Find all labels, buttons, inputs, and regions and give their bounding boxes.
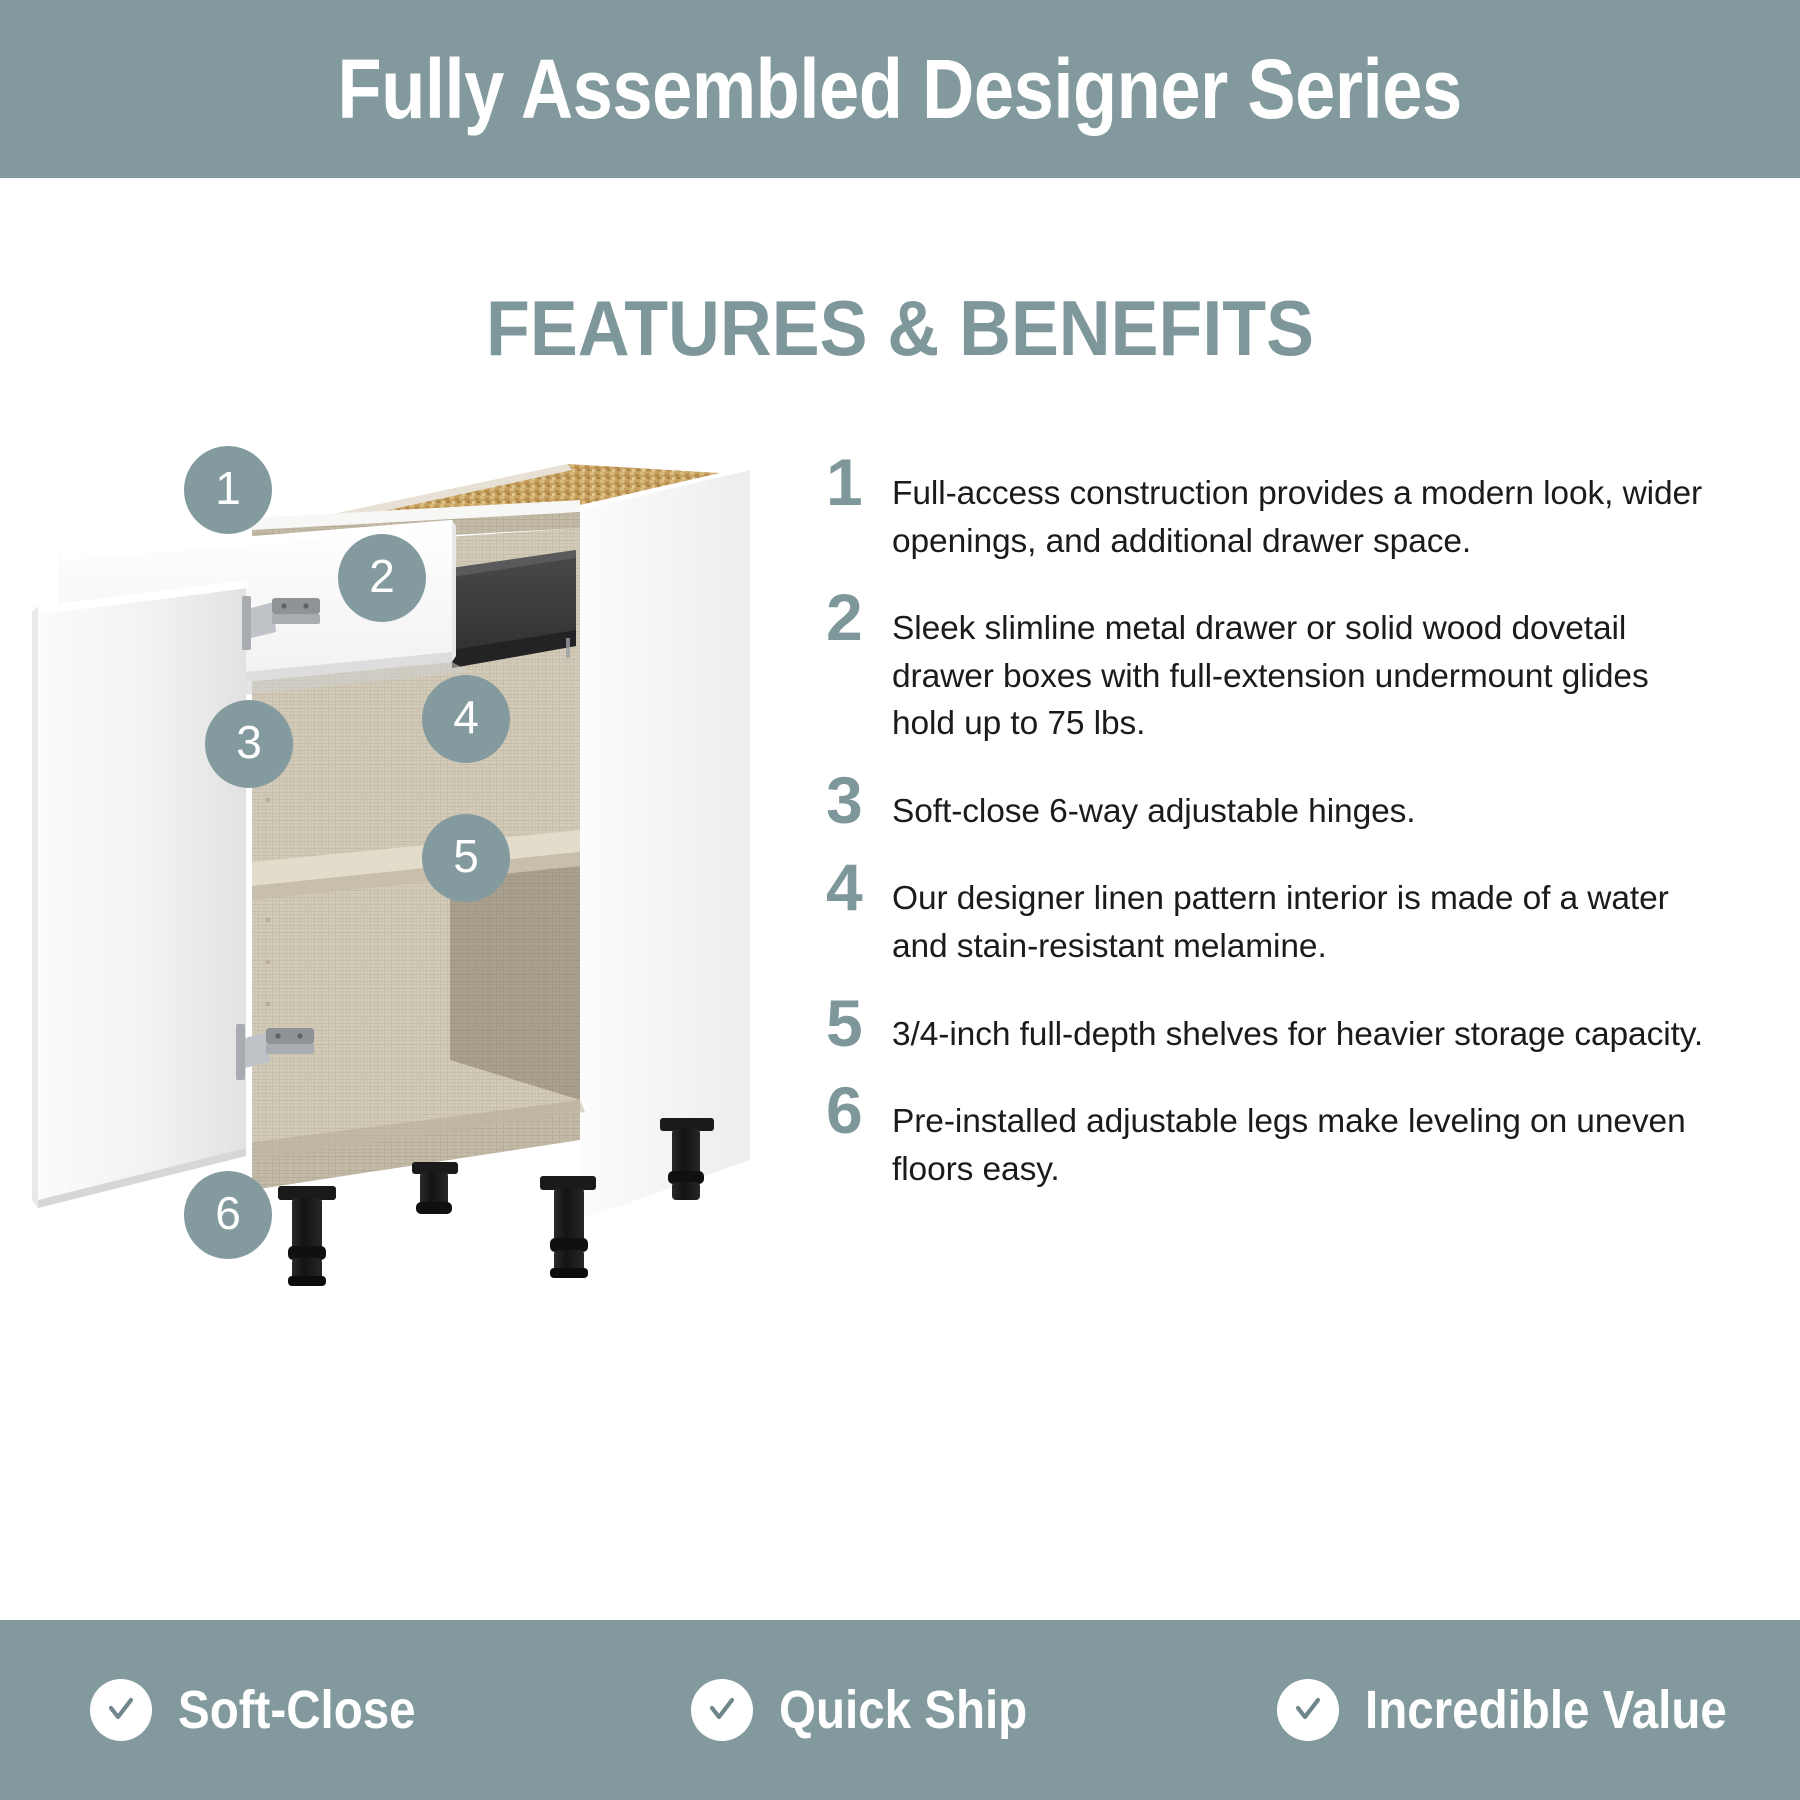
feature-item-2: 2 Sleek slimline metal drawer or solid w… bbox=[820, 587, 1720, 748]
callout-badge-3: 3 bbox=[205, 700, 293, 788]
check-icon bbox=[1277, 1679, 1339, 1741]
header-banner: Fully Assembled Designer Series bbox=[0, 0, 1800, 178]
feature-description: Full-access construction provides a mode… bbox=[892, 452, 1720, 565]
feature-description: Our designer linen pattern interior is m… bbox=[892, 857, 1720, 970]
feature-item-1: 1 Full-access construction provides a mo… bbox=[820, 452, 1720, 565]
footer-benefit-label: Quick Ship bbox=[779, 1683, 1027, 1737]
callout-label: 3 bbox=[236, 719, 262, 765]
cabinet-door bbox=[32, 580, 249, 1208]
callout-label: 2 bbox=[369, 553, 395, 599]
callout-label: 5 bbox=[453, 833, 479, 879]
feature-number: 6 bbox=[820, 1080, 892, 1141]
callout-badge-4: 4 bbox=[422, 675, 510, 763]
feature-description: Sleek slimline metal drawer or solid woo… bbox=[892, 587, 1720, 748]
section-heading: FEATURES & BENEFITS bbox=[72, 286, 1728, 370]
callout-label: 1 bbox=[215, 465, 241, 511]
check-icon bbox=[691, 1679, 753, 1741]
callout-badge-6: 6 bbox=[184, 1171, 272, 1259]
footer-benefit-incredible-value: Incredible Value bbox=[1215, 1679, 1800, 1741]
callout-badge-5: 5 bbox=[422, 814, 510, 902]
callout-badge-2: 2 bbox=[338, 534, 426, 622]
feature-number: 2 bbox=[820, 587, 892, 648]
feature-number: 1 bbox=[820, 452, 892, 513]
feature-description: Soft-close 6-way adjustable hinges. bbox=[892, 770, 1720, 836]
feature-description: 3/4-inch full-depth shelves for heavier … bbox=[892, 993, 1720, 1059]
features-list: 1 Full-access construction provides a mo… bbox=[820, 452, 1720, 1215]
footer-benefit-label: Incredible Value bbox=[1365, 1683, 1727, 1737]
callout-label: 6 bbox=[215, 1190, 241, 1236]
callout-badge-1: 1 bbox=[184, 446, 272, 534]
callout-label: 4 bbox=[453, 694, 479, 740]
feature-item-4: 4 Our designer linen pattern interior is… bbox=[820, 857, 1720, 970]
feature-item-5: 5 3/4-inch full-depth shelves for heavie… bbox=[820, 993, 1720, 1059]
feature-number: 3 bbox=[820, 770, 892, 831]
feature-number: 4 bbox=[820, 857, 892, 918]
feature-item-3: 3 Soft-close 6-way adjustable hinges. bbox=[820, 770, 1720, 836]
cabinet-right-side bbox=[580, 470, 750, 1220]
footer-benefit-label: Soft-Close bbox=[178, 1683, 416, 1737]
footer-benefit-soft-close: Soft-Close bbox=[0, 1679, 613, 1741]
feature-item-6: 6 Pre-installed adjustable legs make lev… bbox=[820, 1080, 1720, 1193]
footer-banner: Soft-Close Quick Ship Incredible Value bbox=[0, 1620, 1800, 1800]
footer-benefit-quick-ship: Quick Ship bbox=[613, 1679, 1214, 1741]
feature-number: 5 bbox=[820, 993, 892, 1054]
check-icon bbox=[90, 1679, 152, 1741]
feature-description: Pre-installed adjustable legs make level… bbox=[892, 1080, 1720, 1193]
page-title: Fully Assembled Designer Series bbox=[338, 47, 1462, 131]
